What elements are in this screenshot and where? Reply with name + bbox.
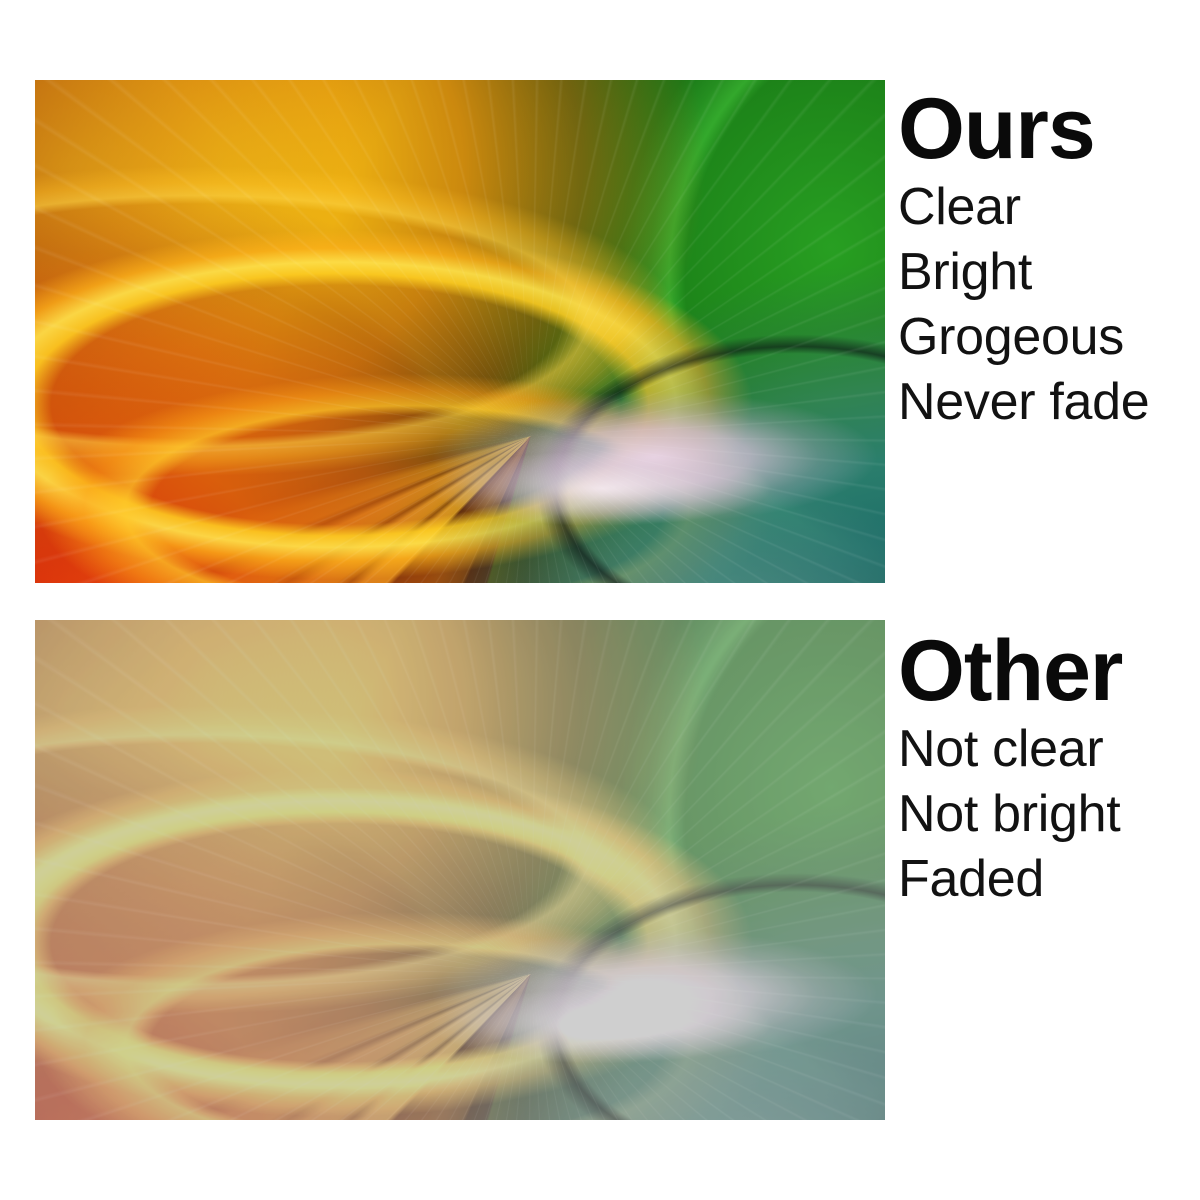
abstract-wave-image-faded [35,620,885,1120]
ours-text-block: Ours Clear Bright Grogeous Never fade [898,88,1149,435]
ours-bullet-4: Never fade [898,370,1149,435]
image-layer-fade-wash [35,80,885,583]
ours-bullet-3: Grogeous [898,305,1149,370]
ours-bullet-1: Clear [898,175,1149,240]
comparison-graphic: Ours Clear Bright Grogeous Never fade [0,0,1200,1200]
ours-heading: Ours [898,88,1149,171]
abstract-wave-image-vivid [35,80,885,583]
ours-bullet-2: Bright [898,240,1149,305]
ours-image-panel [35,80,885,583]
other-heading: Other [898,630,1122,713]
other-text-block: Other Not clear Not bright Faded [898,630,1122,912]
other-bullet-3: Faded [898,847,1122,912]
other-bullet-2: Not bright [898,782,1122,847]
image-layer-fade-wash [35,620,885,1120]
other-bullet-1: Not clear [898,717,1122,782]
other-image-panel [35,620,885,1120]
